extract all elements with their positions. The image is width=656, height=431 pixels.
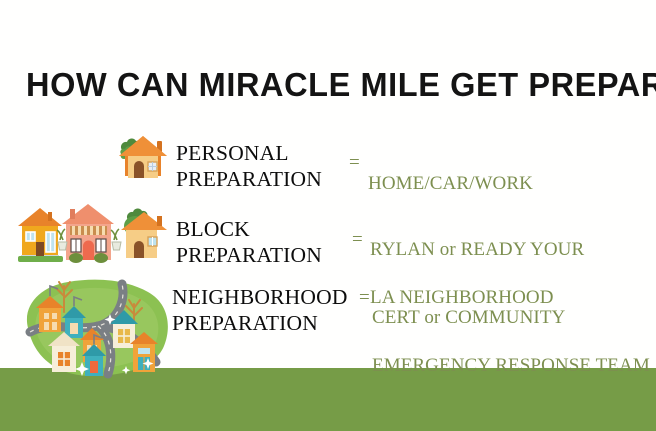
potted-plant-shape — [111, 229, 121, 250]
neighborhood-map-icon — [6, 270, 178, 382]
neighborhood-map-icon-graphic — [6, 270, 178, 382]
preparation-label-line2: PREPARATION — [172, 310, 348, 336]
equals-sign: = — [352, 229, 363, 251]
equals-sign: = — [359, 287, 370, 309]
preparation-label-line2: PREPARATION — [176, 166, 322, 192]
yellow-house-shape — [18, 208, 63, 262]
preparation-value-line2: EMERGENCY RESPONSE TEAM — [372, 354, 650, 378]
preparation-row: PERSONAL PREPARATION = HOME/CAR/WORK — [0, 128, 656, 196]
three-houses-block-icon-graphic — [10, 200, 172, 272]
single-house-icon-graphic — [112, 128, 176, 190]
potted-plant-shape — [57, 229, 67, 250]
preparation-label: BLOCK PREPARATION — [176, 216, 322, 268]
preparation-label-line1: PERSONAL — [176, 140, 322, 166]
preparation-label: PERSONAL PREPARATION — [176, 140, 322, 192]
tan-house-shape — [121, 208, 167, 258]
preparation-value: CERT or COMMUNITY EMERGENCY RESPONSE TEA… — [372, 282, 650, 402]
equals-sign: = — [349, 152, 360, 174]
preparation-value-line1: RYLAN or READY YOUR — [370, 238, 584, 262]
pink-house-shape — [57, 204, 121, 263]
page-title: HOW CAN MIRACLE MILE GET PREPARED? — [26, 66, 627, 104]
preparation-label: NEIGHBORHOOD PREPARATION — [172, 284, 348, 336]
preparation-label-line2: PREPARATION — [176, 242, 322, 268]
awning-shape — [70, 226, 107, 235]
single-house-icon — [112, 128, 176, 190]
preparation-value-line1: HOME/CAR/WORK — [368, 172, 533, 196]
preparation-label-line1: BLOCK — [176, 216, 322, 242]
preparation-value-line1: CERT or COMMUNITY — [372, 306, 650, 330]
preparation-row: BLOCK PREPARATION = RYLAN or READY YOUR … — [0, 200, 656, 272]
preparation-label-line1: NEIGHBORHOOD — [172, 284, 348, 310]
preparation-row: NEIGHBORHOOD PREPARATION = CERT or COMMU… — [0, 270, 656, 380]
slide-canvas: HOW CAN MIRACLE MILE GET PREPARED? — [0, 0, 656, 431]
three-houses-block-icon — [10, 200, 172, 272]
